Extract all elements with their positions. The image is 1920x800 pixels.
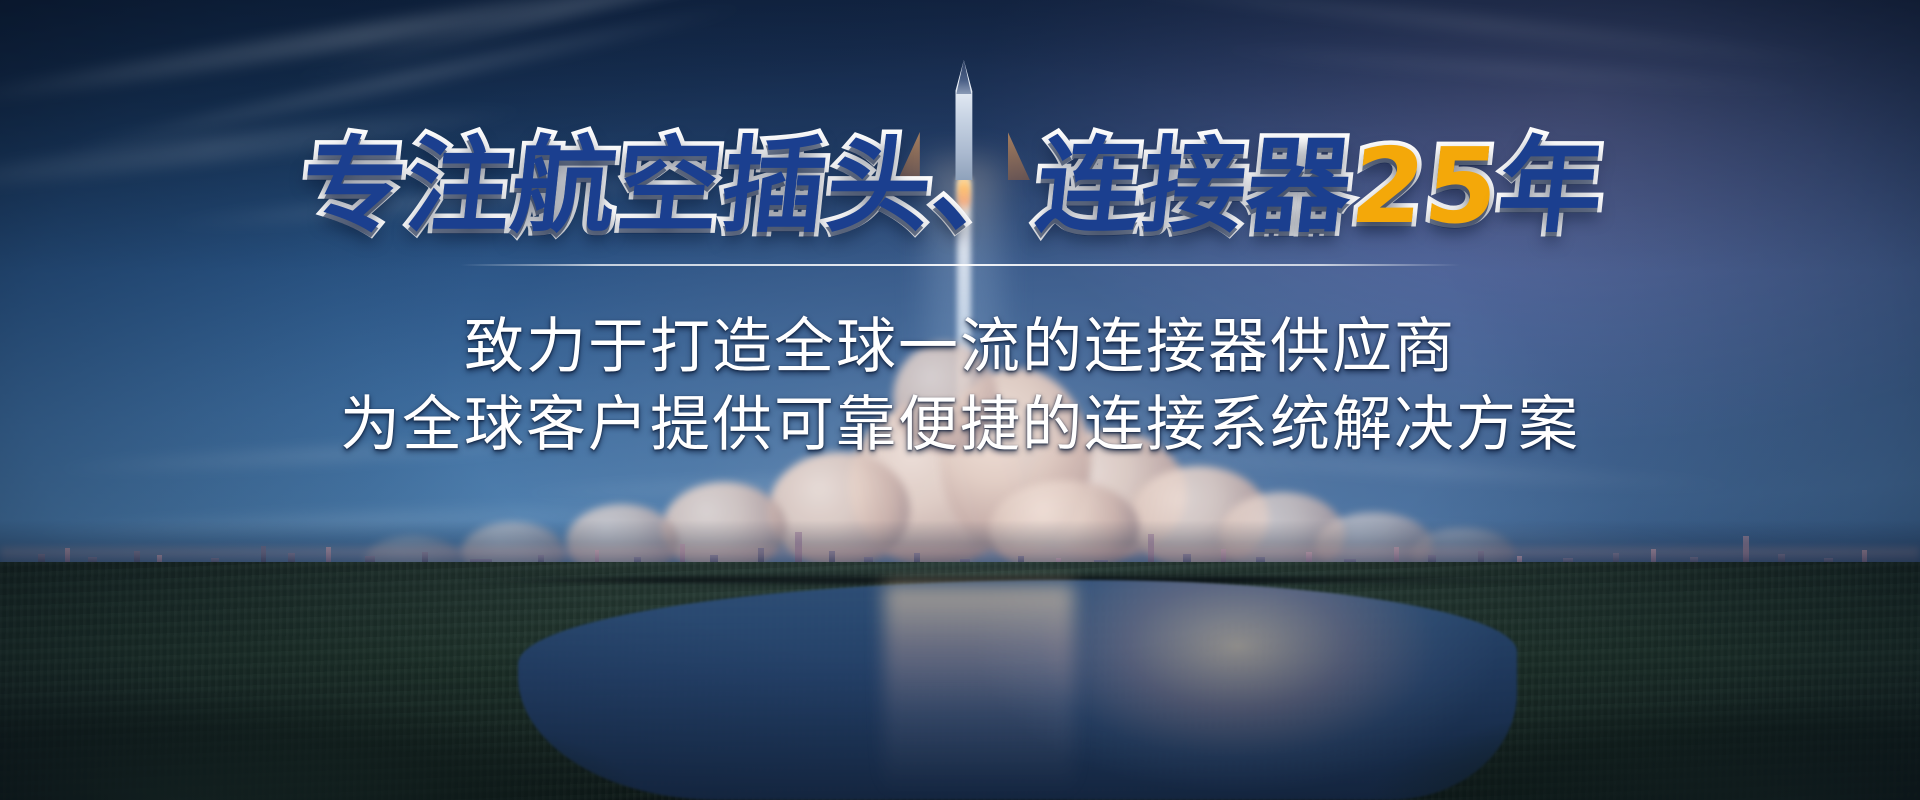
lake-reflection-highlight <box>884 584 1074 794</box>
headline-segment-gold-years: 25 <box>1347 132 1505 240</box>
subtitle-line-1: 致力于打造全球一流的连接器供应商 <box>0 308 1920 386</box>
banner-content: 专注航空插头、连接器25年 致力于打造全球一流的连接器供应商 为全球客户提供可靠… <box>0 0 1920 464</box>
banner-subtitle: 致力于打造全球一流的连接器供应商 为全球客户提供可靠便捷的连接系统解决方案 <box>0 266 1920 464</box>
banner-headline: 专注航空插头、连接器25年 <box>0 0 1920 240</box>
headline-segment-blue-1: 专注航空插头、连接器 <box>296 132 1357 240</box>
foreground-right-shadow <box>1267 660 1920 800</box>
subtitle-line-2: 为全球客户提供可靠便捷的连接系统解决方案 <box>0 386 1920 464</box>
hero-banner: 专注航空插头、连接器25年 致力于打造全球一流的连接器供应商 为全球客户提供可靠… <box>0 0 1920 800</box>
headline-segment-blue-2: 年 <box>1493 132 1609 240</box>
foreground-left-shadow <box>0 650 768 800</box>
